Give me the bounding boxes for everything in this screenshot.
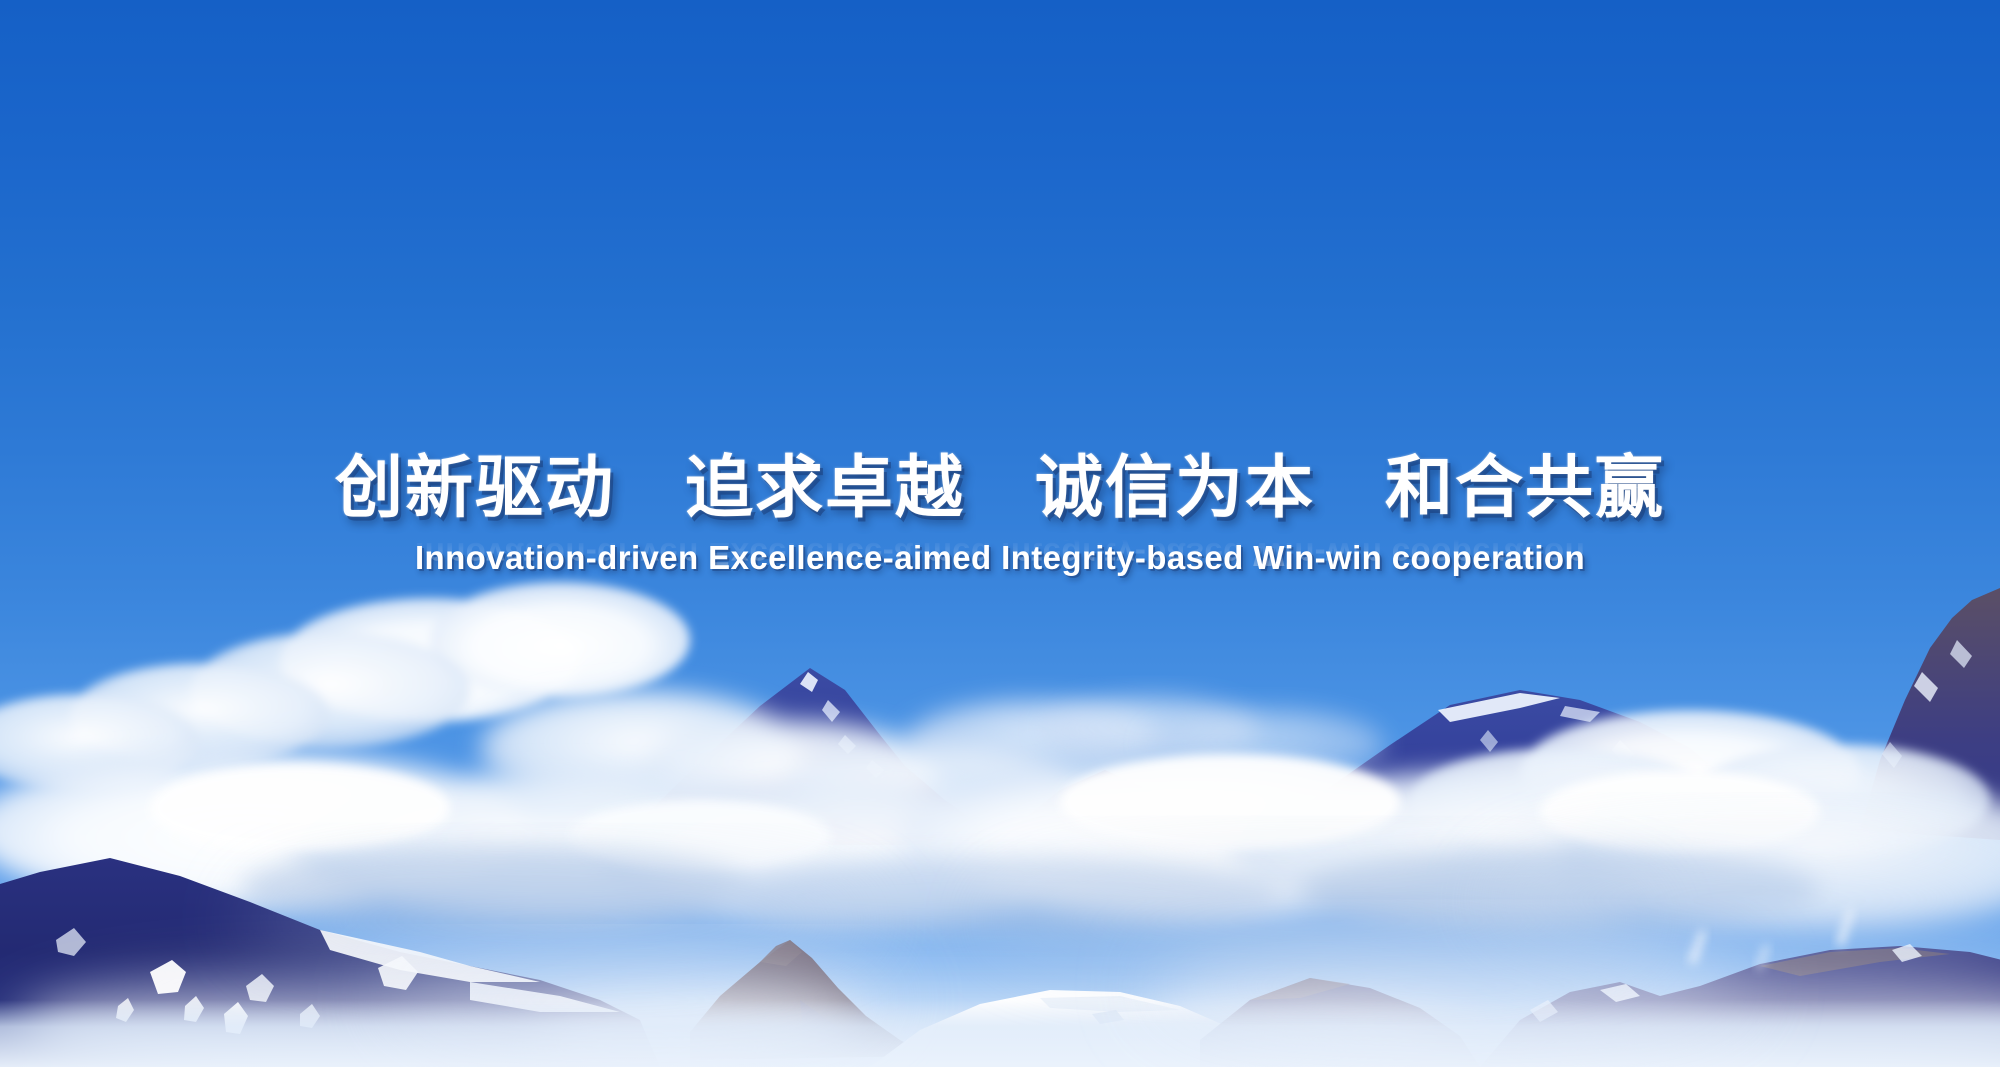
mountain-cloud-scenery (0, 0, 2000, 1067)
hero-banner: 创新驱动 追求卓越 诚信为本 和合共赢 Innovation-driven Ex… (0, 0, 2000, 1067)
